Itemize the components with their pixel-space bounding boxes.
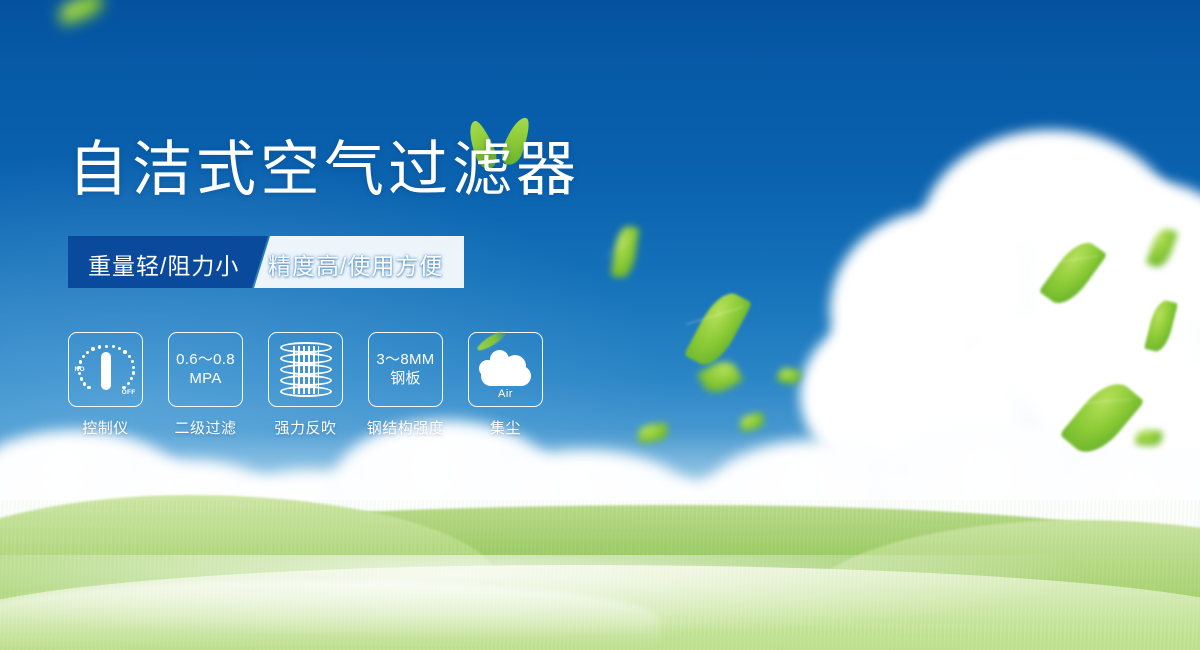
steel-plate-text-icon: 3～8MM 钢板 <box>376 351 434 389</box>
steel-line-1: 3～8MM <box>376 351 434 370</box>
subtitle-bar: 重量轻/阻力小 精度高/使用方便 <box>68 236 464 288</box>
pressure-text-icon: 0.6～0.8 MPA <box>176 351 235 389</box>
feature-caption: 控制仪 <box>82 417 129 438</box>
feature-item[interactable]: NO OFF 控制仪 <box>68 332 143 438</box>
feature-caption: 集尘 <box>490 417 521 438</box>
steel-line-2: 钢板 <box>376 370 434 389</box>
filter-stack-icon <box>280 342 332 398</box>
hero-banner: 自洁式空气过滤器 重量轻/阻力小 精度高/使用方便 <box>0 0 1200 650</box>
dial-label-off: OFF <box>122 389 136 396</box>
feature-icon-box <box>268 332 343 407</box>
air-label: Air <box>477 388 535 400</box>
pressure-line-1: 0.6～0.8 <box>176 351 235 370</box>
pressure-line-2: MPA <box>176 370 235 389</box>
feature-caption: 二级过滤 <box>174 417 236 438</box>
dial-label-on: NO <box>75 366 85 373</box>
feature-icon-box: 0.6～0.8 MPA <box>168 332 243 407</box>
feature-caption: 强力反吹 <box>274 417 336 438</box>
subtitle-left-text: 重量轻/阻力小 <box>88 247 239 281</box>
feature-icon-box: NO OFF <box>68 332 143 407</box>
feature-icon-box: 3～8MM 钢板 <box>368 332 443 407</box>
feature-item[interactable]: 0.6～0.8 MPA 二级过滤 <box>168 332 243 438</box>
feature-caption: 钢结构强度 <box>367 417 445 438</box>
page-title: 自洁式空气过滤器 <box>68 140 580 200</box>
dial-gauge-icon: NO OFF <box>75 339 137 401</box>
banner-content: 自洁式空气过滤器 重量轻/阻力小 精度高/使用方便 <box>0 0 1200 650</box>
feature-list: NO OFF 控制仪 0.6～0.8 MPA 二级过滤 <box>68 332 543 438</box>
feature-item[interactable]: 3～8MM 钢板 钢结构强度 <box>368 332 443 438</box>
feature-item[interactable]: Air 集尘 <box>468 332 543 438</box>
feature-icon-box: Air <box>468 332 543 407</box>
feature-item[interactable]: 强力反吹 <box>268 332 343 438</box>
subtitle-right-text: 精度高/使用方便 <box>268 247 443 281</box>
leaf-icon <box>475 327 509 353</box>
cloud-air-icon: Air <box>477 344 535 396</box>
